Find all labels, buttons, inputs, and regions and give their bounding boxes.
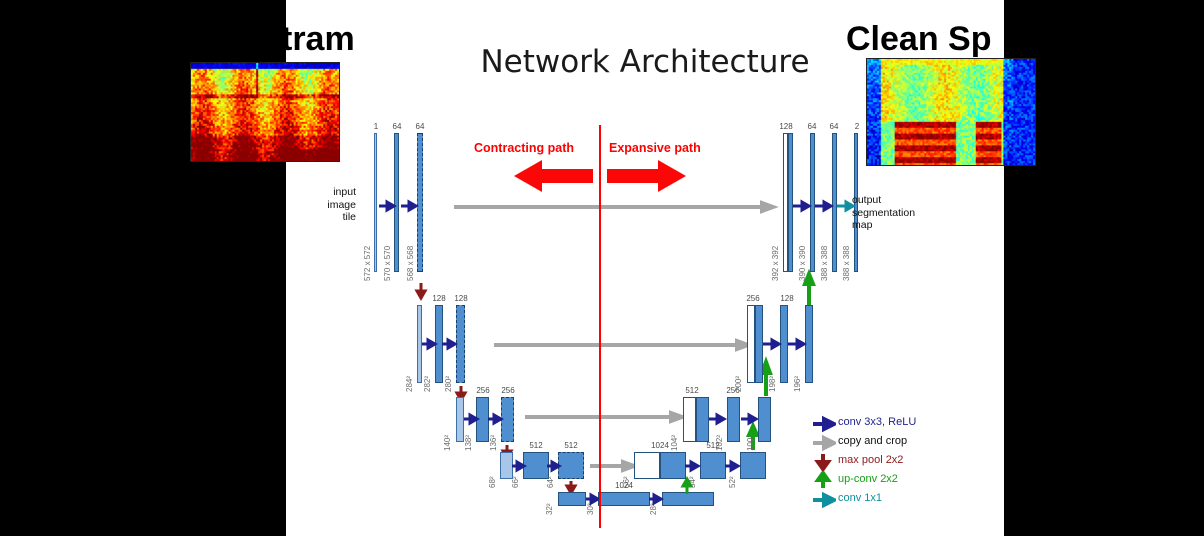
conv-arrow-icon xyxy=(741,414,757,424)
channel-label: 128 xyxy=(775,122,797,131)
size-label: 68² xyxy=(488,476,497,488)
layer-bar-l4-c1 xyxy=(523,452,549,479)
right-arrow-icon xyxy=(812,490,836,509)
layer-bar-l3e-c2 xyxy=(758,397,771,442)
conv-arrow-icon xyxy=(763,339,780,349)
layer-bar-l1-c2 xyxy=(417,133,423,272)
clean-spectrogram-canvas xyxy=(867,59,1035,165)
layer-bar-l4-c2 xyxy=(558,452,584,479)
layer-bar-l2e-up xyxy=(755,305,763,383)
size-label: 54² xyxy=(688,476,697,488)
conv-arrow-icon xyxy=(379,201,395,211)
size-label: 572 x 572 xyxy=(363,246,372,281)
noisy-spectrogram xyxy=(190,62,340,162)
legend-label: max pool 2x2 xyxy=(838,454,903,466)
up-arrow-icon xyxy=(812,471,836,490)
conv-arrow-icon xyxy=(788,339,805,349)
layer-bar-l3e-up xyxy=(696,397,709,442)
output-label-line: segmentation xyxy=(852,207,915,220)
conv-arrow-icon xyxy=(422,339,436,349)
noisy-spectrogram-canvas xyxy=(191,63,339,161)
size-label: 64² xyxy=(546,476,555,488)
size-label: 196² xyxy=(793,376,802,392)
layer-bar-l4e-c1 xyxy=(700,452,726,479)
layer-bar-l3-in xyxy=(456,397,464,442)
size-label: 390 x 390 xyxy=(798,246,807,281)
layer-bar-l2e-copy xyxy=(747,305,755,383)
conv-arrow-icon xyxy=(488,414,502,424)
conv-arrow-icon xyxy=(586,494,599,504)
size-label: 56² xyxy=(622,476,631,488)
size-label: 284² xyxy=(405,376,414,392)
expansive-path-label: Expansive path xyxy=(609,141,701,155)
right-arrow-icon xyxy=(812,433,836,452)
size-label: 100² xyxy=(746,435,755,451)
size-label: 388 x 388 xyxy=(820,246,829,281)
size-label: 280² xyxy=(444,376,453,392)
copy-crop-arrow-icon xyxy=(590,461,635,471)
clean-spectrogram-title: Clean Sp xyxy=(846,20,991,59)
input-label-line: input xyxy=(327,186,356,199)
legend-label: copy and crop xyxy=(838,435,907,447)
layer-bar-l3e-copy xyxy=(683,397,696,442)
channel-label: 64 xyxy=(801,122,823,131)
size-label: 30² xyxy=(586,503,595,515)
channel-label: 64 xyxy=(409,122,431,131)
channel-label: 128 xyxy=(773,294,801,303)
size-label: 28² xyxy=(649,503,658,515)
noisy-spectrogram-title: tram xyxy=(281,20,355,59)
path-divider xyxy=(599,125,601,528)
size-label: 136² xyxy=(489,435,498,451)
conv-arrow-icon xyxy=(649,494,662,504)
layer-bar-l4e-c2 xyxy=(740,452,766,479)
layer-bar-l3e-c1 xyxy=(727,397,740,442)
channel-label: 256 xyxy=(718,386,748,395)
conv-arrow-icon xyxy=(685,461,699,471)
channel-label: 64 xyxy=(386,122,408,131)
size-label: 32² xyxy=(545,503,554,515)
size-label: 198² xyxy=(768,376,777,392)
legend-label: conv 3x3, ReLU xyxy=(838,416,916,428)
output-label-line: output xyxy=(852,194,915,207)
layer-bar-bottom-c2 xyxy=(662,492,714,506)
size-label: 140² xyxy=(443,435,452,451)
channel-label: 2 xyxy=(846,122,868,131)
channel-label: 512 xyxy=(677,386,707,395)
conv-arrow-icon xyxy=(442,339,456,349)
size-label: 102² xyxy=(715,435,724,451)
conv-arrow-icon xyxy=(512,461,525,471)
size-label: 570 x 570 xyxy=(383,246,392,281)
channel-label: 256 xyxy=(493,386,523,395)
conv-arrow-icon xyxy=(401,201,417,211)
conv-arrow-icon xyxy=(547,461,560,471)
layer-bar-l4e-copy xyxy=(634,452,660,479)
layer-bar-l4e-up xyxy=(660,452,686,479)
channel-label: 512 xyxy=(519,441,553,450)
size-label: 282² xyxy=(423,376,432,392)
size-label: 104² xyxy=(670,435,679,451)
size-label: 200² xyxy=(734,376,743,392)
copy-crop-arrow-icon xyxy=(525,412,683,422)
channel-label: 512 xyxy=(696,441,730,450)
conv-arrow-icon xyxy=(709,414,725,424)
conv-arrow-icon xyxy=(464,414,478,424)
legend-label: conv 1x1 xyxy=(838,492,882,504)
layer-bar-l1-input xyxy=(374,133,377,272)
input-label-line: image xyxy=(327,199,356,212)
down-arrow-icon xyxy=(812,452,836,471)
right-arrow-icon xyxy=(812,414,836,433)
copy-crop-arrow-icon xyxy=(454,202,774,212)
expansive-big-arrow-icon xyxy=(606,158,686,199)
conv-arrow-icon xyxy=(793,201,810,211)
channel-label: 1 xyxy=(366,122,386,131)
contracting-path-label: Contracting path xyxy=(474,141,574,155)
size-label: 138² xyxy=(464,435,473,451)
conv-arrow-icon xyxy=(815,201,832,211)
size-label: 52² xyxy=(728,476,737,488)
size-label: 568 x 568 xyxy=(406,246,415,281)
channel-label: 256 xyxy=(739,294,767,303)
input-label-line: tile xyxy=(327,211,356,224)
legend-label: up-conv 2x2 xyxy=(838,473,898,485)
layer-bar-bottom-c1 xyxy=(598,492,650,506)
copy-crop-arrow-icon xyxy=(494,340,749,350)
size-label: 66² xyxy=(511,476,520,488)
clean-spectrogram xyxy=(866,58,1036,166)
contracting-big-arrow-icon xyxy=(514,158,594,199)
channel-label: 64 xyxy=(823,122,845,131)
channel-label: 512 xyxy=(554,441,588,450)
layer-bar-bottom-in xyxy=(558,492,586,506)
conv-arrow-icon xyxy=(725,461,739,471)
size-label: 388 x 388 xyxy=(842,246,851,281)
slide-root: tram Clean Sp Network Architecture 1 64 … xyxy=(0,0,1204,536)
output-label-line: map xyxy=(852,219,915,232)
size-label: 392 x 392 xyxy=(771,246,780,281)
channel-label: 128 xyxy=(447,294,475,303)
